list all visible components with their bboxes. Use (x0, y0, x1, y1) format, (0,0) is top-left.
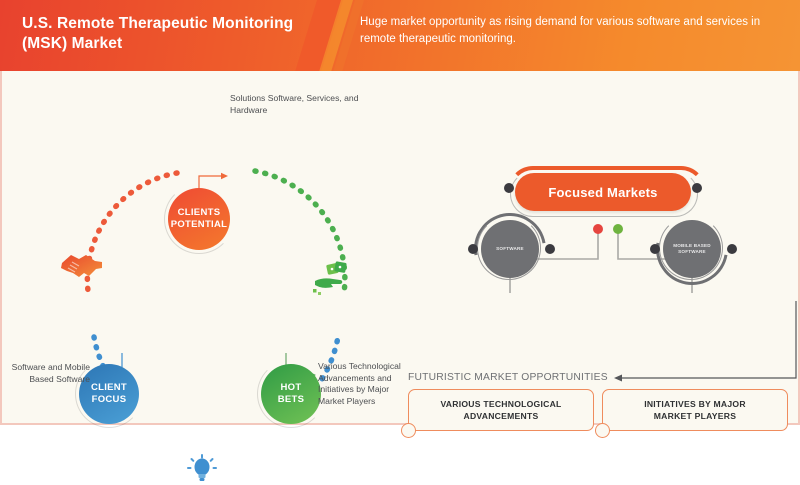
node-label-line1: HOT (281, 382, 302, 393)
handshake-icon (59, 249, 105, 283)
futuristic-opportunities-label: FUTURISTIC MARKET OPPORTUNITIES (408, 372, 608, 383)
opportunity-box-notch (595, 423, 610, 438)
opportunity-line2: ADVANCEMENTS (464, 411, 539, 421)
opportunity-box-text: VARIOUS TECHNOLOGICAL ADVANCEMENTS (440, 398, 561, 422)
market-circle-dot-left (650, 244, 660, 254)
node-label-line1: CLIENT (91, 382, 127, 393)
infographic-root: U.S. Remote Therapeutic Monitoring (MSK)… (0, 0, 800, 425)
diagram-canvas: CLIENTS POTENTIAL CLIENT FOCUS HOT BETS (0, 71, 800, 425)
market-circle-software-label: SOFTWARE (496, 246, 524, 252)
client-focus-callout: Software and Mobile Based Software (10, 362, 90, 385)
node-label-line2: FOCUS (92, 394, 127, 405)
node-clients-potential-label: CLIENTS POTENTIAL (171, 207, 228, 232)
focused-markets-node[interactable]: Focused Markets (507, 167, 699, 217)
market-circle-dot-left (468, 244, 478, 254)
header-subtitle: Huge market opportunity as rising demand… (360, 14, 780, 47)
opportunity-box-notch (401, 423, 416, 438)
connector-dot-green (613, 224, 623, 234)
market-circle-software[interactable]: SOFTWARE (481, 220, 539, 278)
hot-bets-callout: Various Technological Advancements and I… (318, 361, 410, 407)
header-banner: U.S. Remote Therapeutic Monitoring (MSK)… (0, 0, 800, 71)
opportunity-line1: INITIATIVES BY MAJOR (644, 399, 746, 409)
market-circle-dot-right (727, 244, 737, 254)
market-circle-mobile-based-software[interactable]: MOBILE BASED SOFTWARE (663, 220, 721, 278)
node-client-focus-label: CLIENT FOCUS (91, 382, 127, 407)
market-label-line1: MOBILE BASED (673, 243, 711, 248)
clients-potential-callout: Solutions Software, Services, and Hardwa… (230, 93, 360, 116)
node-hot-bets-label: HOT BETS (278, 382, 305, 407)
focused-markets-dot-right (692, 183, 702, 193)
focused-markets-label: Focused Markets (515, 173, 691, 211)
focused-markets-dot-left (504, 183, 514, 193)
futuristic-arrow (610, 301, 800, 383)
page-title: U.S. Remote Therapeutic Monitoring (MSK)… (22, 14, 312, 54)
market-circle-mobile-label: MOBILE BASED SOFTWARE (673, 243, 711, 255)
node-label-line2: POTENTIAL (171, 219, 228, 230)
node-clients-potential[interactable]: CLIENTS POTENTIAL (168, 188, 230, 250)
opportunity-box-text: INITIATIVES BY MAJOR MARKET PLAYERS (644, 398, 746, 422)
market-circle-dot-right (545, 244, 555, 254)
lightbulb-icon (186, 453, 218, 485)
market-label-line2: SOFTWARE (678, 249, 706, 254)
hand-money-icon (313, 261, 353, 295)
node-hot-bets[interactable]: HOT BETS (261, 364, 321, 424)
node-label-line2: BETS (278, 394, 305, 405)
node-label-line1: CLIENTS (178, 207, 221, 218)
opportunity-line1: VARIOUS TECHNOLOGICAL (440, 399, 561, 409)
opportunity-line2: MARKET PLAYERS (654, 411, 736, 421)
connector-dot-red (593, 224, 603, 234)
